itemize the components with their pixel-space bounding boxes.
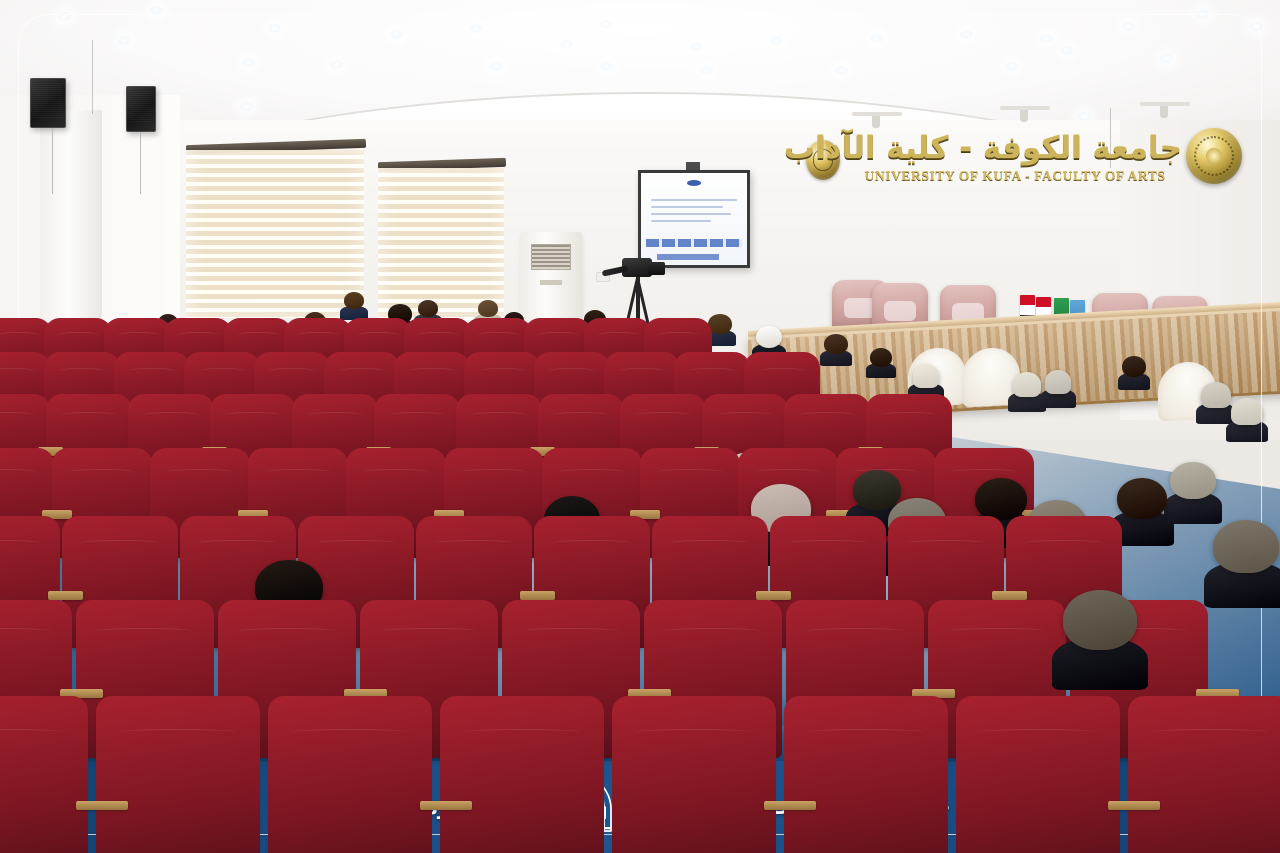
hijab [913,364,940,388]
slide-progress-bar [657,254,719,260]
window-blinds-left [186,150,364,318]
projection-screen [638,170,750,268]
head [870,348,892,367]
armrest-tablet [48,591,83,600]
ceiling-downlight [1122,22,1135,31]
audience-member [1204,520,1280,608]
ceiling-downlight [240,102,253,111]
air-conditioner-unit [520,232,582,328]
ceiling-downlight [700,66,713,75]
track-light-left [852,112,902,116]
speaker-cable-a [52,128,53,194]
head [824,334,848,354]
auditorium-seat [1134,700,1280,853]
ceiling-downlight [835,66,848,75]
head [1122,356,1146,377]
ac-badge [540,280,562,285]
auditorium-photo: جامعة الكوفة - كلية الآداب UNIVERSITY OF… [0,0,1280,853]
auditorium-seat [0,700,82,853]
head [478,300,499,317]
wall-cable-left [92,40,93,114]
track-light-right [1140,102,1190,106]
ceiling-downlight [242,58,255,67]
speaker-cable-b [140,132,141,194]
turban [756,326,781,348]
head [418,300,439,317]
auditorium-seat [274,700,426,853]
wall-speaker-right [126,86,156,132]
head [1117,478,1167,519]
head [1063,590,1138,650]
projection-screen-face [641,173,747,265]
ceiling-downlight [600,20,613,29]
track-light-mid [1000,106,1050,110]
armrest-tablet [1108,801,1160,810]
ceiling-downlight [1160,54,1173,63]
audience-member [1118,356,1150,390]
ceiling-downlight [870,34,883,43]
ceiling-downlight [600,62,613,71]
auditorium-seat [446,700,598,853]
ceiling-downlight [1250,22,1263,31]
slide-text-line [651,199,737,201]
ceiling-downlight [470,24,483,33]
ceiling-downlight [1060,46,1073,55]
slide-text-line [651,206,723,208]
hijab [1231,398,1262,425]
wall-speaker-left [30,78,66,128]
armrest-tablet [520,591,555,600]
ceiling-downlight [690,42,703,51]
head [344,292,365,309]
wall-sign-english: UNIVERSITY OF KUFA - FACULTY OF ARTS [848,168,1182,184]
ceiling-downlight [58,12,71,21]
ac-grille-icon [531,244,571,270]
ceiling-downlight [118,36,131,45]
head [1213,520,1279,573]
camera-lens-icon [648,262,665,275]
auditorium-seat [102,700,254,853]
head [1170,462,1215,499]
slide-toolbar [646,239,742,247]
audience-member [1226,398,1268,442]
ceiling-downlight [330,60,343,69]
armrest-tablet [764,801,816,810]
ceiling-downlight [268,24,281,33]
armrest-tablet [420,801,472,810]
audience-member [1040,370,1076,408]
audience-member [866,348,896,378]
armrest-tablet [992,591,1027,600]
audience-member [1052,590,1148,690]
auditorium-seat [962,700,1114,853]
university-seal-emblem-icon [1186,128,1242,184]
ceiling-downlight [390,30,403,39]
ceiling-downlight [1005,62,1018,71]
slide-header-mark [687,180,701,186]
hijab [1045,370,1072,394]
auditorium-seat [618,700,770,853]
ceiling-downlight [150,6,163,15]
ceiling-downlight [490,62,503,71]
auditorium-seat [790,700,942,853]
ceiling-downlight [960,30,973,39]
wall-sign-arabic: جامعة الكوفة - كلية الآداب [848,130,1182,166]
ceiling-downlight [1196,10,1209,19]
ceiling-downlight [560,40,573,49]
hijab [1013,372,1041,397]
ceiling-downlight [1040,34,1053,43]
audience-member [340,292,368,320]
slide-text-line [651,213,731,215]
window-blinds-right [378,168,504,320]
slide-text-line [651,220,711,222]
armrest-tablet [756,591,791,600]
ceiling-downlight [770,36,783,45]
event-photo-card: جامعة الكوفة - كلية الآداب UNIVERSITY OF… [0,0,1280,853]
armrest-tablet [76,801,128,810]
audience-member [820,334,852,366]
